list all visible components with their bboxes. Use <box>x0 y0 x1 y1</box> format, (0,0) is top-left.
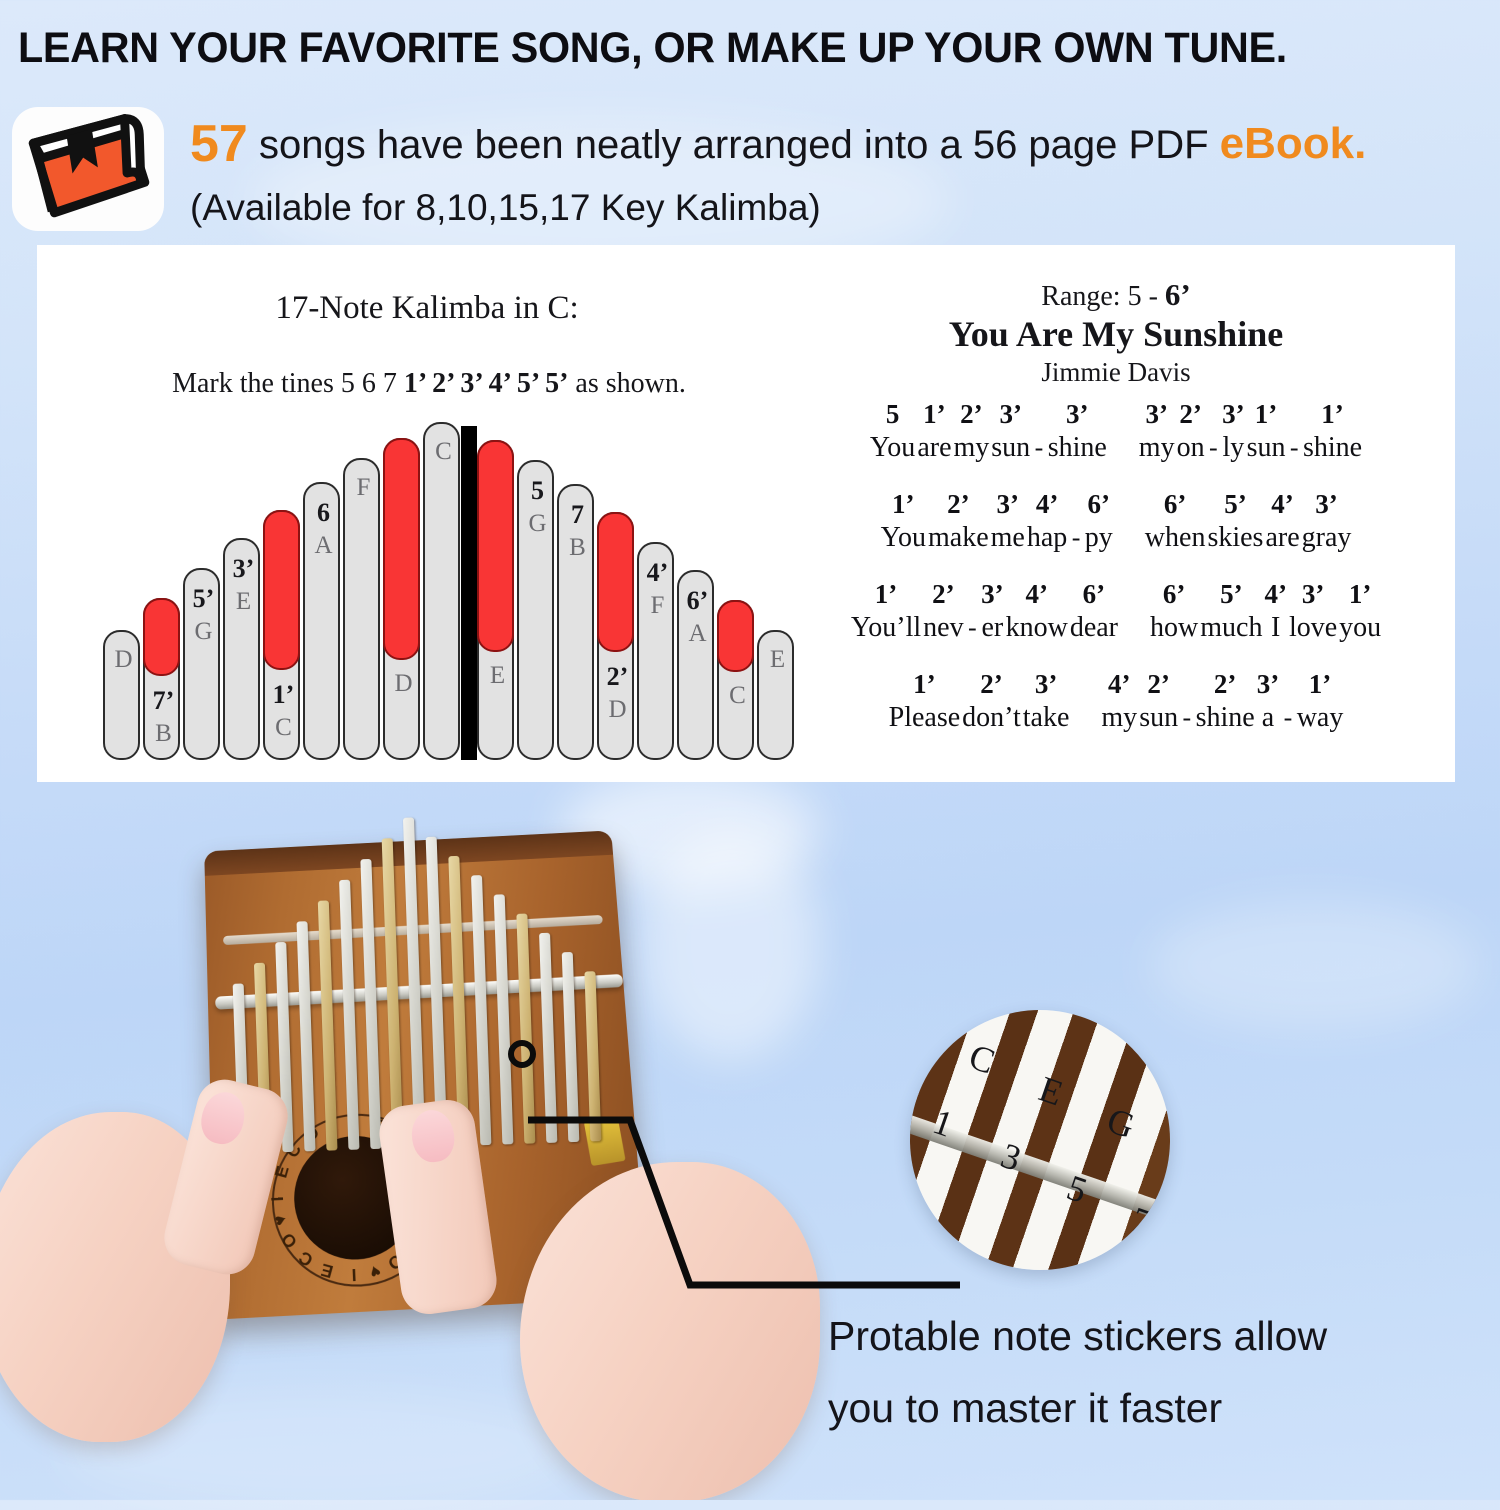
syllable: my <box>1139 431 1175 465</box>
note: 3’ <box>999 397 1022 431</box>
note: 3’ <box>1315 487 1338 521</box>
note-syllable: 3’love <box>1288 577 1338 645</box>
note: 2’ <box>1179 397 1202 431</box>
tine-marker <box>597 512 634 652</box>
song-title: You Are My Sunshine <box>777 313 1455 355</box>
tine-letter: E <box>479 662 516 690</box>
tine: 7’B <box>143 598 180 760</box>
note-syllable: x- <box>1179 667 1195 735</box>
tine-letter: F <box>639 592 676 620</box>
syllable: sun <box>991 431 1030 465</box>
note: 5 <box>886 397 900 431</box>
tine-marker <box>383 438 420 660</box>
note-syllable: 3’my <box>1138 397 1176 465</box>
note-syllable: x- <box>1206 397 1222 465</box>
range-high: 6’ <box>1165 277 1191 312</box>
promo-period: . <box>1354 119 1366 168</box>
tine: 5’G <box>183 568 220 760</box>
note-syllable: 6’dear <box>1069 577 1119 645</box>
tine-letter: E <box>225 588 262 616</box>
tine-letter: D <box>385 670 422 698</box>
note-syllable: 3’me <box>990 487 1026 555</box>
ebook-icon <box>12 107 164 231</box>
tine: F <box>343 458 380 760</box>
brand-char: ♥ <box>269 1211 292 1228</box>
note-syllable: 3’sun <box>990 397 1031 465</box>
note: 5’ <box>1224 487 1247 521</box>
promo-line-1: 57 songs have been neatly arranged into … <box>190 115 1500 174</box>
tine-letter: C <box>265 714 302 742</box>
instruction-plain-notes: 5 6 7 <box>341 368 397 399</box>
song-phrase: 1’You’ll2’nevx-3’er4’know6’dear <box>850 577 1119 645</box>
tine-letter: A <box>679 620 716 648</box>
syllable: shine <box>1048 431 1107 465</box>
note-syllable: 4’know <box>1005 577 1069 645</box>
tine: E <box>477 440 514 760</box>
syllable: know <box>1006 611 1068 645</box>
tine-letter: C <box>719 682 756 710</box>
tine: C <box>717 600 754 760</box>
note: 6’ <box>1163 577 1186 611</box>
note: 3’ <box>1145 397 1168 431</box>
note: 3’ <box>1066 397 1089 431</box>
syllable: way <box>1297 701 1344 735</box>
syllable: - <box>966 611 979 645</box>
note-syllable: 3’er <box>980 577 1005 645</box>
brand-char: E <box>319 1258 336 1281</box>
song-count: 57 <box>190 115 248 173</box>
note-syllable: 2’nev <box>922 577 964 645</box>
syllable: py <box>1085 521 1113 555</box>
tine: 5G <box>517 460 554 760</box>
note: 6’ <box>1164 487 1187 521</box>
tine: 2’D <box>597 512 634 760</box>
syllable: me <box>991 521 1025 555</box>
note: 4’ <box>1108 667 1131 701</box>
tine-number: 3’ <box>225 554 262 584</box>
song-phrase: 5You1’are2’my3’sunx-3’shine <box>869 397 1108 465</box>
note-syllable: 4’my <box>1100 667 1138 735</box>
note: 6’ <box>1088 487 1111 521</box>
syllable: are <box>917 431 951 465</box>
tine: D <box>103 630 140 760</box>
song-sheet: Range: 5 - 6’ You Are My Sunshine Jimmie… <box>777 245 1455 782</box>
note: 2’ <box>932 577 955 611</box>
song-line: 5You1’are2’my3’sunx-3’shine3’my2’onx-3’l… <box>777 397 1455 465</box>
note: 1’ <box>1349 577 1372 611</box>
note-syllable: 4’are <box>1264 487 1300 555</box>
note: 5’ <box>1220 577 1243 611</box>
note: 1’ <box>1321 397 1344 431</box>
tine-number: 4’ <box>639 558 676 588</box>
tine-letter: D <box>105 646 142 674</box>
syllable: You’ll <box>851 611 921 645</box>
note-syllable: x- <box>1031 397 1047 465</box>
syllable: hap <box>1027 521 1067 555</box>
tine: 6’A <box>677 570 714 760</box>
syllable: - <box>1181 701 1194 735</box>
song-author: Jimmie Davis <box>777 357 1455 388</box>
note-syllable: 1’way <box>1296 667 1345 735</box>
tine-letter: B <box>145 720 182 748</box>
song-line: 1’You2’make3’me4’hapx-6’py6’when5’skies4… <box>777 487 1455 555</box>
note-syllable: 5’skies <box>1206 487 1264 555</box>
syllable: you <box>1339 611 1381 645</box>
tine: 6A <box>303 482 340 760</box>
note-syllable: x- <box>1280 667 1296 735</box>
note: 1’ <box>1255 397 1278 431</box>
syllable: - <box>1033 431 1046 465</box>
tine-number: 5’ <box>185 584 222 614</box>
note-syllable: 2’make <box>927 487 990 555</box>
diagram-instruction: Mark the tines 5 6 7 1’ 2’ 3’ 4’ 5’ 5’ a… <box>89 368 769 400</box>
syllable: are <box>1265 521 1299 555</box>
song-phrase: 1’You2’make3’me4’hapx-6’py <box>880 487 1114 555</box>
callout-connector <box>500 1020 960 1400</box>
syllable: - <box>1282 701 1295 735</box>
note: 4’ <box>1036 487 1059 521</box>
syllable: - <box>1207 431 1220 465</box>
promo-text: 57 songs have been neatly arranged into … <box>190 115 1500 236</box>
note-syllable: x- <box>965 577 981 645</box>
note: 3’ <box>1222 397 1245 431</box>
kalimba-tine <box>403 817 426 1147</box>
tine-letter: C <box>425 438 462 466</box>
note-syllable: 3’take <box>1022 667 1071 735</box>
note: 3’ <box>981 577 1004 611</box>
tine-marker <box>477 440 514 652</box>
range-low: 5 <box>1128 281 1142 312</box>
note: 3’ <box>997 487 1020 521</box>
note: 2’ <box>947 487 970 521</box>
tine: 7B <box>557 484 594 760</box>
note-syllable: 1’shine <box>1302 397 1363 465</box>
note: 1’ <box>892 487 915 521</box>
kalimba-tine <box>360 859 381 1149</box>
syllable: shine <box>1303 431 1362 465</box>
brand-char: C <box>295 1246 317 1271</box>
tine-letter: G <box>519 510 556 538</box>
syllable: take <box>1023 701 1070 735</box>
song-line: 1’You’ll2’nevx-3’er4’know6’dear6’how5’mu… <box>777 577 1455 645</box>
tine: D <box>383 438 420 760</box>
note: 3’ <box>1035 667 1058 701</box>
note-syllable: 1’You <box>880 487 927 555</box>
note-syllable: 3’ly <box>1221 397 1246 465</box>
song-phrase: 6’how5’much4’I3’love1’you <box>1149 577 1382 645</box>
syllable: on <box>1177 431 1205 465</box>
syllable: ly <box>1222 431 1244 465</box>
note: 6’ <box>1083 577 1106 611</box>
diagram-title: 17-Note Kalimba in C: <box>147 290 707 327</box>
note: 4’ <box>1264 577 1287 611</box>
tine-letter: B <box>559 534 596 562</box>
song-line: 1’Please2’don’t3’take4’my2’sunx-2’shine3… <box>777 667 1455 735</box>
tine-letter: D <box>599 696 636 724</box>
note-syllable: 5’much <box>1199 577 1263 645</box>
note-syllable: 1’you <box>1338 577 1382 645</box>
syllable: sun <box>1247 431 1286 465</box>
note-syllable: 6’py <box>1084 487 1114 555</box>
kalimba-tine <box>471 875 491 1145</box>
note: 4’ <box>1271 487 1294 521</box>
note-syllable: 6’when <box>1144 487 1207 555</box>
syllable: You <box>870 431 915 465</box>
kalimba-tine <box>339 880 359 1150</box>
note: 1’ <box>913 667 936 701</box>
syllable: I <box>1271 611 1280 645</box>
syllable: dear <box>1070 611 1118 645</box>
note-syllable: 4’I <box>1263 577 1288 645</box>
ebook-label: eBook <box>1220 119 1354 168</box>
range-dash: - <box>1149 281 1158 312</box>
note-syllable: 4’hap <box>1026 487 1068 555</box>
brand-char: ♥ <box>366 1259 383 1282</box>
promo-line-1-text: songs have been neatly arranged into a 5… <box>259 123 1209 167</box>
syllable: nev <box>923 611 963 645</box>
tine-gap <box>461 426 477 760</box>
syllable: gray <box>1302 521 1352 555</box>
note-syllable: x- <box>1286 397 1302 465</box>
song-range: Range: 5 - 6’ <box>777 277 1455 313</box>
tine-marker <box>263 510 300 670</box>
syllable: Please <box>889 701 961 735</box>
note-syllable: 5You <box>869 397 916 465</box>
syllable: sun <box>1139 701 1178 735</box>
tine: C <box>423 422 460 760</box>
note-syllable: 2’don’t <box>961 667 1022 735</box>
tine-number: 7 <box>559 500 596 530</box>
note-syllable: x- <box>1068 487 1084 555</box>
tine-number: 6’ <box>679 586 716 616</box>
syllable: make <box>928 521 989 555</box>
tine-marker <box>717 600 754 672</box>
note-syllable: 2’sun <box>1138 667 1179 735</box>
brand-char: I <box>351 1264 357 1285</box>
syllable: - <box>1070 521 1083 555</box>
instruction-bold-notes: 1’ 2’ 3’ 4’ 5’ 5’ <box>404 368 569 399</box>
syllable: love <box>1289 611 1337 645</box>
brand-char: I <box>268 1196 288 1202</box>
instruction-prefix: Mark the tines <box>172 368 334 399</box>
note-syllable: 1’sun <box>1246 397 1287 465</box>
note-syllable: 3’shine <box>1047 397 1108 465</box>
tine-marker <box>143 598 180 676</box>
note: 3’ <box>1302 577 1325 611</box>
promo-line-2: (Available for 8,10,15,17 Key Kalimba) <box>190 180 1500 236</box>
syllable: much <box>1200 611 1262 645</box>
syllable: my <box>1101 701 1137 735</box>
syllable: You <box>881 521 926 555</box>
note-syllable: 1’are <box>916 397 952 465</box>
note-syllable: 3’a <box>1256 667 1281 735</box>
song-phrase: 1’Please2’don’t3’take <box>888 667 1071 735</box>
brand-char: O <box>278 1228 302 1252</box>
note: 3’ <box>1257 667 1280 701</box>
instruction-card: 17-Note Kalimba in C: Mark the tines 5 6… <box>37 245 1455 782</box>
range-label: Range: <box>1041 281 1120 312</box>
song-phrase: 3’my2’onx-3’ly1’sunx-1’shine <box>1138 397 1363 465</box>
syllable: - <box>1288 431 1301 465</box>
tine-number: 5 <box>519 476 556 506</box>
song-phrase: 6’when5’skies4’are3’gray <box>1144 487 1353 555</box>
note: 2’ <box>1147 667 1170 701</box>
tine-letter: G <box>185 618 222 646</box>
tine-letter: F <box>345 474 382 502</box>
kalimba-tine <box>296 921 315 1151</box>
callout-target-dot <box>508 1040 536 1068</box>
tine-number: 7’ <box>145 686 182 716</box>
syllable: skies <box>1207 521 1263 555</box>
syllable: my <box>954 431 990 465</box>
syllable: shine <box>1196 701 1255 735</box>
song-phrase: 4’my2’sunx-2’shine3’ax-1’way <box>1100 667 1344 735</box>
page-headline: LEARN YOUR FAVORITE SONG, OR MAKE UP YOU… <box>18 24 1429 73</box>
syllable: when <box>1145 521 1206 555</box>
instruction-suffix: as shown. <box>575 368 685 399</box>
note: 1’ <box>875 577 898 611</box>
note-syllable: 2’my <box>953 397 991 465</box>
kalimba-tine-diagram: D7’B5’G3’E1’C6AFDCE5G7B2’D4’F6’ACE <box>97 420 777 760</box>
note-syllable: 1’You’ll <box>850 577 922 645</box>
note-syllable: 6’how <box>1149 577 1199 645</box>
note-syllable: 3’gray <box>1301 487 1353 555</box>
tine-number: 1’ <box>265 680 302 710</box>
tine-number: 2’ <box>599 662 636 692</box>
note: 2’ <box>1214 667 1237 701</box>
note: 2’ <box>960 397 983 431</box>
note: 4’ <box>1025 577 1048 611</box>
note-syllable: 2’on <box>1176 397 1206 465</box>
note: 1’ <box>1309 667 1332 701</box>
tine: 3’E <box>223 538 260 760</box>
syllable: er <box>981 611 1003 645</box>
tine-letter: A <box>305 532 342 560</box>
note: 1’ <box>923 397 946 431</box>
note-syllable: 2’shine <box>1195 667 1256 735</box>
tine: 4’F <box>637 542 674 760</box>
syllable: a <box>1262 701 1274 735</box>
syllable: how <box>1150 611 1198 645</box>
syllable: don’t <box>962 701 1021 735</box>
note: 2’ <box>980 667 1003 701</box>
tine: 1’C <box>263 510 300 760</box>
note-syllable: 1’Please <box>888 667 962 735</box>
tine-number: 6 <box>305 498 342 528</box>
